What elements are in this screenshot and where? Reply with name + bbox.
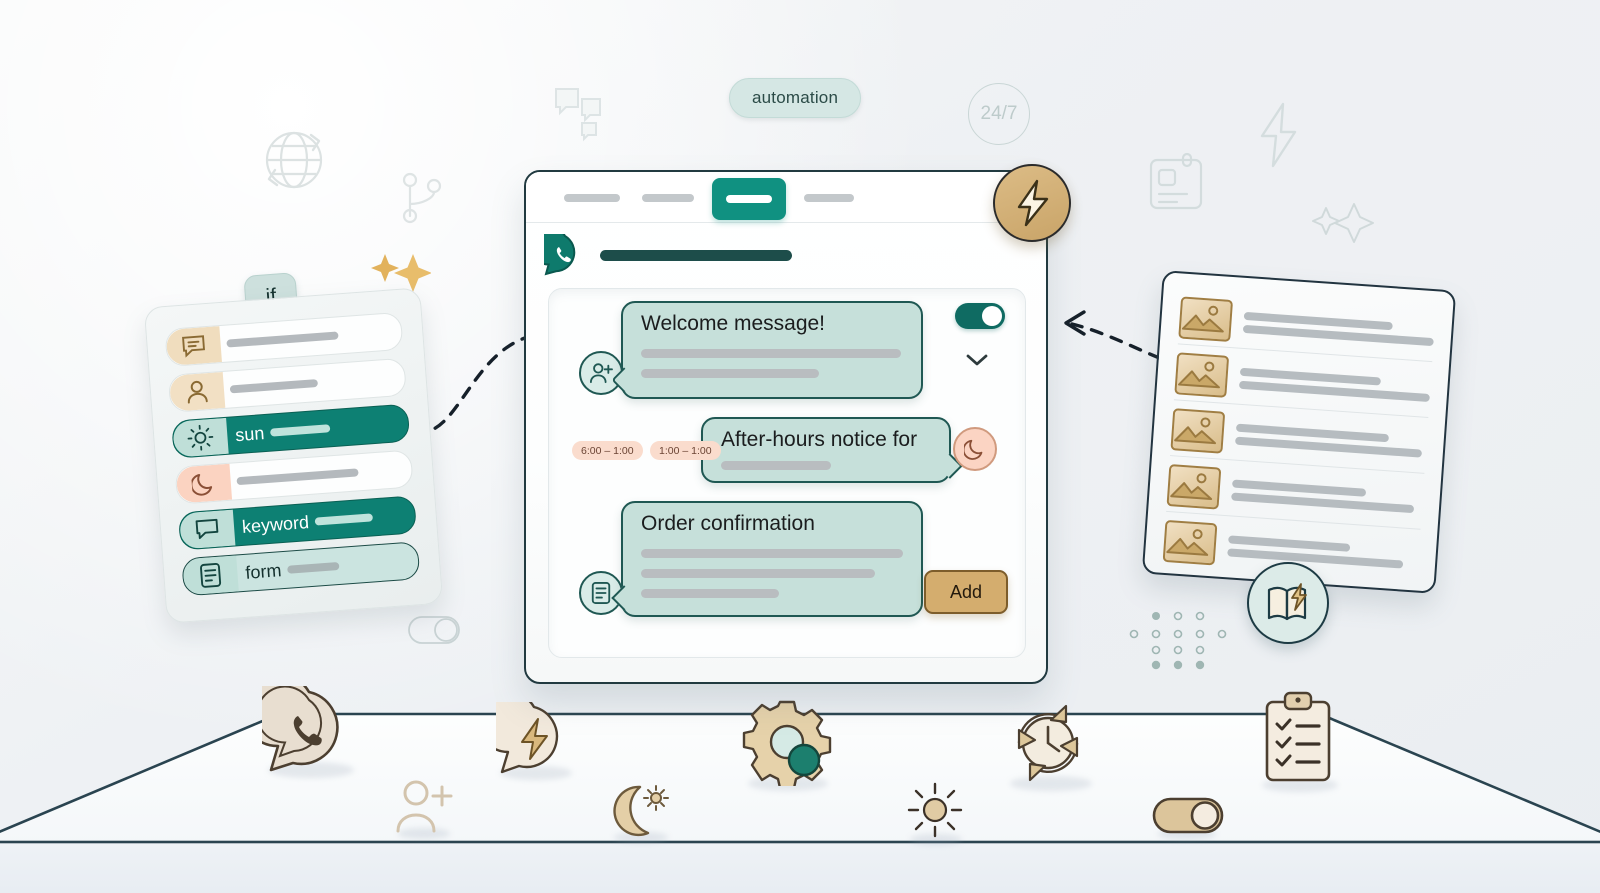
trigger-row-form[interactable]: form [181,541,420,596]
trigger-row-label: form [245,560,282,584]
image-placeholder-icon [1167,464,1222,510]
media-row-lines [1231,474,1424,518]
sun-icon[interactable] [906,781,964,844]
trigger-row-moon[interactable] [175,449,414,504]
trigger-row-keyword[interactable]: keyword [178,495,417,550]
trigger-card: sun keyword [144,287,443,623]
message-title: Welcome message! [641,312,825,336]
trigger-row-placeholder [226,331,338,347]
trigger-row-person[interactable] [168,358,407,413]
window-tab-bar [526,172,1046,223]
form-icon [182,555,238,595]
message-title: Order confirmation [641,512,815,536]
chat-bubble-icon [165,326,221,366]
toggle-switch-icon [406,612,462,646]
moon-sun-icon[interactable] [608,781,672,844]
message-after-hours[interactable]: After-hours notice for [701,417,951,483]
media-card [1142,270,1456,594]
trigger-row-label: sun [235,423,265,446]
toggle-switch-icon[interactable] [1150,793,1226,842]
bolt-bubble-icon[interactable] [496,702,572,783]
media-row-lines [1227,530,1420,574]
trigger-row-sun[interactable]: sun [171,404,410,459]
automation-chip[interactable]: automation [729,78,861,118]
uptime-badge: 24/7 [968,83,1030,145]
id-card-icon [1145,150,1207,214]
media-row-lines [1242,306,1435,350]
image-placeholder-icon [1174,352,1229,398]
branch-nodes-icon [398,170,446,226]
message-order-confirmation[interactable]: Order confirmation [621,501,923,617]
trigger-row-placeholder [236,468,358,485]
trigger-row-placeholder [270,424,330,436]
lightning-bolt-icon[interactable] [993,164,1071,242]
master-toggle[interactable] [955,303,1005,329]
trigger-row-placeholder [287,562,339,574]
image-placeholder-icon [1170,408,1225,454]
clock-sync-icon[interactable] [1002,700,1094,791]
tab-4[interactable] [804,194,854,202]
time-badge: 1:00 – 1:00 [650,441,721,460]
chat-bubbles-icon [548,85,604,143]
gear-icon[interactable] [742,698,834,791]
media-row-lines [1235,418,1428,462]
sun-icon [172,418,228,458]
image-placeholder-icon [1163,520,1218,566]
image-placeholder-icon [1178,296,1233,342]
message-title: After-hours notice for [721,428,917,452]
whatsapp-icon [544,234,586,276]
lightning-bolt-icon [1252,100,1306,170]
moon-icon [953,427,997,471]
window-title-bar [600,250,792,261]
media-row-lines [1239,362,1432,406]
add-user-icon[interactable] [392,779,456,840]
add-button[interactable]: Add [924,570,1008,614]
tab-2[interactable] [642,194,694,202]
trigger-row-placeholder [230,379,318,393]
time-badge: 6:00 – 1:00 [572,441,643,460]
trigger-row-chat[interactable] [164,312,403,367]
clipboard-checklist-icon[interactable] [1259,690,1337,791]
moon-icon [176,464,232,504]
sparkle-icon [1312,198,1374,257]
chat-bubble-icon [179,510,235,550]
chevron-down-icon[interactable] [963,351,991,374]
trigger-row-placeholder [315,513,373,525]
trigger-row-label: keyword [241,512,309,538]
person-icon [169,372,225,412]
book-lightning-icon[interactable] [1247,562,1329,644]
illustration-canvas: automation 24/7 [0,0,1600,893]
globe-sync-icon [254,120,334,200]
dot-grid-icon [1128,608,1228,675]
message-welcome[interactable]: Welcome message! [621,301,923,399]
tab-3-active[interactable] [712,178,786,220]
tab-1[interactable] [564,194,620,202]
whatsapp-icon[interactable] [262,686,356,783]
